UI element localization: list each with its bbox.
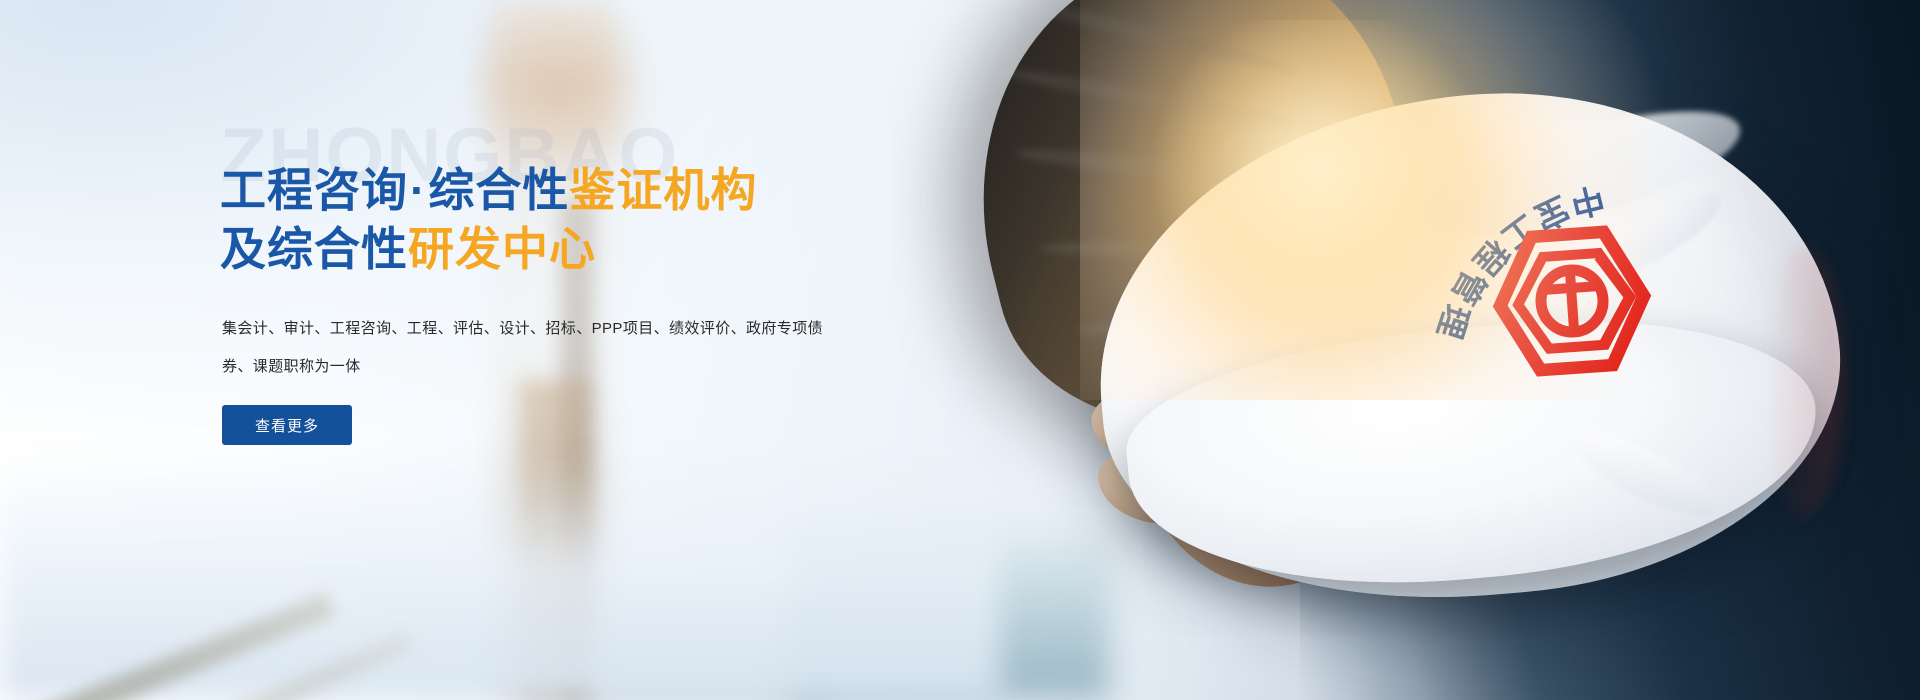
- headline-line1-accent: 鉴证机构: [569, 164, 757, 216]
- hard-hat-edge-shadow: [1764, 246, 1844, 516]
- sleeve-fold: [1002, 0, 1297, 78]
- headline-line-2: 及综合性研发中心: [220, 223, 757, 276]
- hero-banner: 中宝工程管理 ZHONGBAO 工程咨询·综合性鉴证机构 及综合性研发中心 集会…: [0, 0, 1920, 700]
- view-more-button[interactable]: 查看更多: [222, 405, 352, 445]
- headline-separator: ·: [408, 164, 428, 216]
- headline-line-1: 工程咨询·综合性鉴证机构: [220, 164, 757, 217]
- headline-line1-primary2: 综合性: [428, 164, 569, 216]
- hero-content: ZHONGBAO 工程咨询·综合性鉴证机构 及综合性研发中心 集会计、审计、工程…: [220, 0, 1000, 700]
- hero-subtitle: 集会计、审计、工程咨询、工程、评估、设计、招标、PPP项目、绩效评价、政府专项债…: [222, 310, 832, 387]
- zhongbao-hexagon-emblem-icon: [1485, 222, 1659, 379]
- headline-line2-accent: 研发中心: [408, 223, 596, 275]
- page-title: 工程咨询·综合性鉴证机构 及综合性研发中心: [220, 164, 757, 283]
- headline-line2-primary: 及综合性: [220, 223, 408, 275]
- headline-line1-primary: 工程咨询: [220, 164, 408, 216]
